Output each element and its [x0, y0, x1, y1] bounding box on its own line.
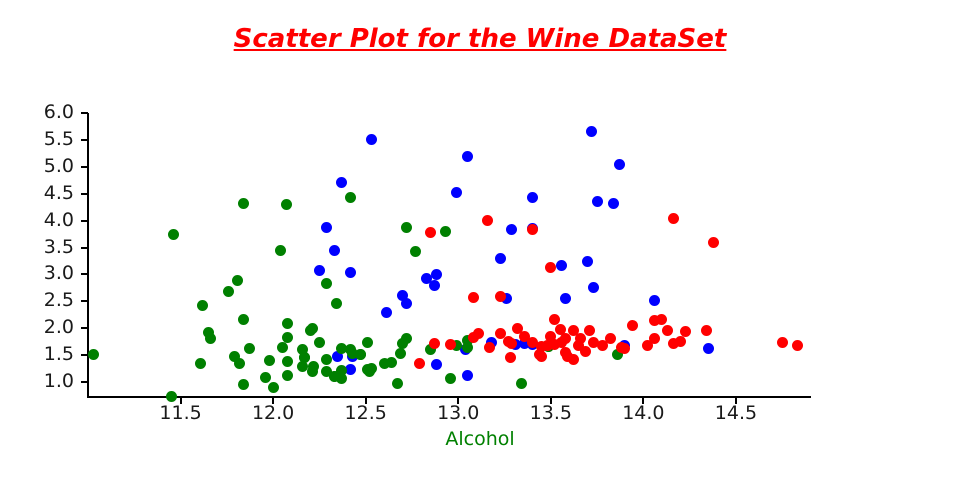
scatter-point: [649, 295, 660, 306]
scatter-point: [410, 246, 421, 257]
y-tick-mark: [81, 354, 88, 356]
scatter-point: [703, 343, 714, 354]
scatter-point: [649, 333, 660, 344]
scatter-point: [321, 278, 332, 289]
y-tick-label: 4.0: [2, 211, 74, 230]
scatter-point: [238, 314, 249, 325]
scatter-point: [556, 260, 567, 271]
scatter-point: [166, 391, 177, 402]
x-axis-label: Alcohol: [0, 428, 960, 450]
scatter-point: [244, 343, 255, 354]
scatter-point: [260, 372, 271, 383]
scatter-point: [429, 280, 440, 291]
scatter-point: [414, 358, 425, 369]
scatter-point: [680, 326, 691, 337]
y-tick-mark: [81, 220, 88, 222]
scatter-point: [282, 332, 293, 343]
scatter-point: [584, 325, 595, 336]
scatter-point: [429, 338, 440, 349]
scatter-point: [345, 192, 356, 203]
y-tick-mark: [81, 247, 88, 249]
y-tick-label: 4.5: [2, 184, 74, 203]
scatter-point: [168, 229, 179, 240]
x-tick-label: 11.5: [159, 404, 201, 423]
y-tick-mark: [81, 381, 88, 383]
y-tick-mark: [81, 327, 88, 329]
scatter-point: [282, 356, 293, 367]
scatter-point: [468, 292, 479, 303]
scatter-point: [281, 199, 292, 210]
scatter-point: [329, 245, 340, 256]
scatter-point: [484, 342, 495, 353]
scatter-point: [582, 256, 593, 267]
y-tick-label: 3.5: [2, 238, 74, 257]
scatter-point: [321, 354, 332, 365]
scatter-point: [88, 349, 99, 360]
y-tick-mark: [81, 300, 88, 302]
scatter-point: [586, 126, 597, 137]
scatter-point: [431, 269, 442, 280]
scatter-point: [392, 378, 403, 389]
x-tick-label: 12.0: [252, 404, 294, 423]
scatter-point: [336, 177, 347, 188]
y-tick-label: 3.0: [2, 264, 74, 283]
scatter-point: [195, 358, 206, 369]
scatter-point: [675, 336, 686, 347]
scatter-point: [592, 196, 603, 207]
scatter-point: [473, 328, 484, 339]
scatter-point: [482, 215, 493, 226]
scatter-point: [506, 224, 517, 235]
scatter-point: [588, 282, 599, 293]
x-tick-label: 14.0: [622, 404, 664, 423]
y-tick-label: 6.0: [2, 103, 74, 122]
scatter-point: [440, 226, 451, 237]
y-tick-mark: [81, 166, 88, 168]
y-tick-mark: [81, 193, 88, 195]
scatter-point: [777, 337, 788, 348]
x-tick-label: 12.5: [345, 404, 387, 423]
scatter-point: [238, 379, 249, 390]
y-tick-label: 2.5: [2, 291, 74, 310]
scatter-point: [197, 300, 208, 311]
scatter-point: [401, 222, 412, 233]
scatter-point: [560, 333, 571, 344]
scatter-point: [314, 265, 325, 276]
scatter-point: [321, 222, 332, 233]
scatter-point: [462, 151, 473, 162]
scatter-point: [619, 343, 630, 354]
scatter-point: [701, 325, 712, 336]
scatter-point: [605, 333, 616, 344]
scatter-point: [366, 134, 377, 145]
x-tick-label: 13.5: [530, 404, 572, 423]
scatter-point: [580, 346, 591, 357]
scatter-point: [362, 337, 373, 348]
plot-area: [88, 113, 810, 397]
scatter-point: [462, 370, 473, 381]
y-tick-label: 5.5: [2, 130, 74, 149]
scatter-point: [234, 358, 245, 369]
scatter-point: [627, 320, 638, 331]
scatter-point: [314, 337, 325, 348]
scatter-point: [527, 192, 538, 203]
scatter-point: [299, 352, 310, 363]
scatter-point: [275, 245, 286, 256]
scatter-point: [401, 298, 412, 309]
scatter-point: [668, 213, 679, 224]
scatter-point: [560, 293, 571, 304]
x-tick-label: 14.5: [715, 404, 757, 423]
scatter-point: [516, 378, 527, 389]
y-tick-label: 1.5: [2, 345, 74, 364]
page-title: Scatter Plot for the Wine DataSet: [0, 24, 960, 54]
scatter-point: [329, 371, 340, 382]
scatter-point: [366, 363, 377, 374]
scatter-point: [397, 338, 408, 349]
scatter-point: [223, 286, 234, 297]
scatter-point: [282, 318, 293, 329]
scatter-point: [545, 262, 556, 273]
scatter-point: [425, 227, 436, 238]
scatter-point: [345, 364, 356, 375]
scatter-point: [495, 253, 506, 264]
scatter-point: [381, 307, 392, 318]
y-tick-label: 1.0: [2, 372, 74, 391]
scatter-point: [386, 357, 397, 368]
y-tick-label: 2.0: [2, 318, 74, 337]
y-tick-mark: [81, 139, 88, 141]
scatter-point: [307, 366, 318, 377]
scatter-point: [445, 373, 456, 384]
scatter-point: [662, 325, 673, 336]
scatter-point: [608, 198, 619, 209]
scatter-point: [527, 224, 538, 235]
scatter-point: [395, 348, 406, 359]
scatter-point: [305, 325, 316, 336]
scatter-point: [431, 359, 442, 370]
scatter-point: [575, 333, 586, 344]
chart-figure: Scatter Plot for the Wine DataSet 1.01.5…: [0, 0, 960, 500]
scatter-point: [205, 333, 216, 344]
y-tick-mark: [81, 112, 88, 114]
scatter-point: [345, 267, 356, 278]
scatter-point: [656, 314, 667, 325]
scatter-point: [451, 187, 462, 198]
scatter-point: [792, 340, 803, 351]
scatter-point: [277, 342, 288, 353]
y-tick-mark: [81, 273, 88, 275]
scatter-point: [268, 382, 279, 393]
y-tick-label: 5.0: [2, 157, 74, 176]
scatter-point: [331, 298, 342, 309]
scatter-point: [264, 355, 275, 366]
scatter-point: [238, 198, 249, 209]
scatter-point: [282, 370, 293, 381]
scatter-point: [708, 237, 719, 248]
x-tick-label: 13.0: [437, 404, 479, 423]
scatter-point: [505, 352, 516, 363]
scatter-point: [232, 275, 243, 286]
scatter-point: [614, 159, 625, 170]
scatter-point: [355, 349, 366, 360]
